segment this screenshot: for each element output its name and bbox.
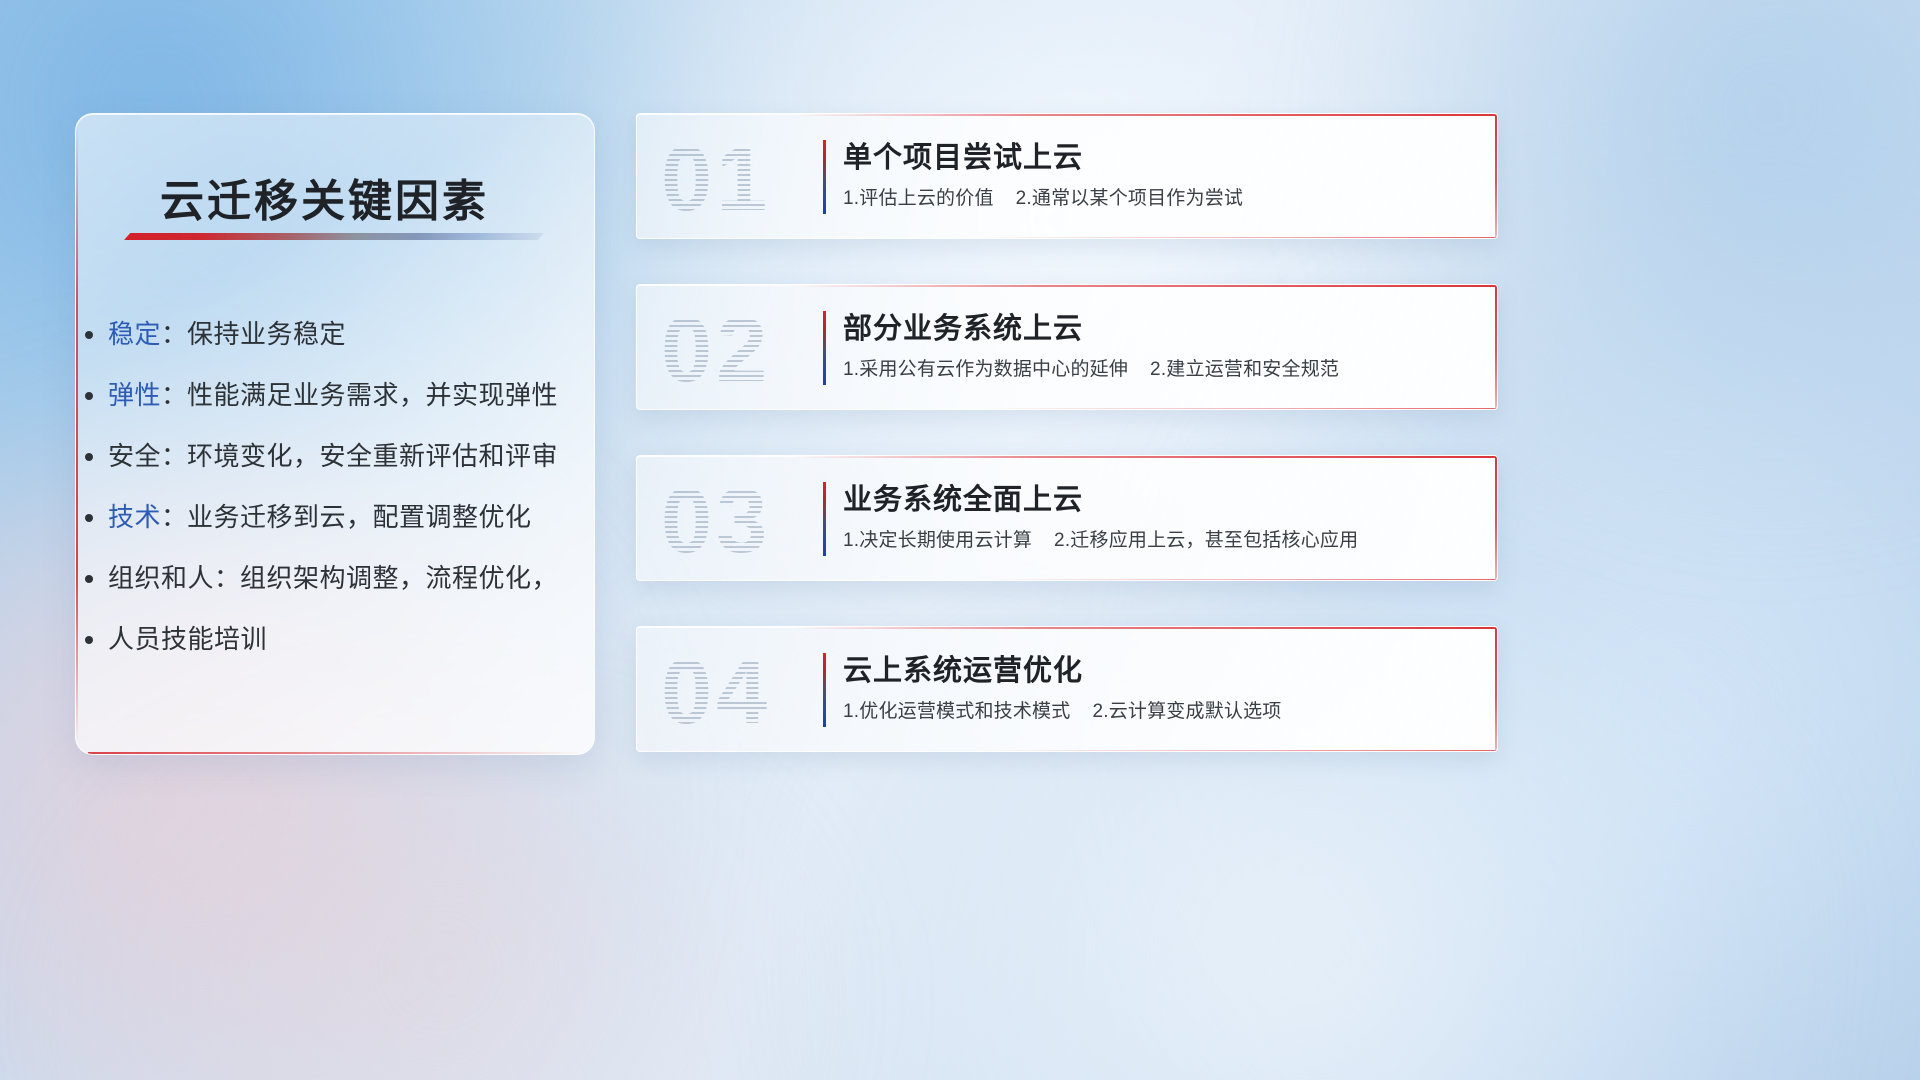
card-bottom-accent-line: [981, 750, 1497, 751]
slide-stage: 云迁移关键因素 稳定：保持业务稳定弹性：性能满足业务需求，并实现弹性安全：环境变…: [0, 0, 1920, 1080]
stage-point-2: 2.通常以某个项目作为尝试: [1016, 188, 1243, 209]
stage-number: 01: [661, 124, 771, 234]
factor-separator: ：: [214, 563, 240, 593]
stage-point-1: 1.采用公有云作为数据中心的延伸: [843, 359, 1128, 380]
stage-point-1: 1.评估上云的价值: [843, 188, 994, 209]
stage-number: 02: [661, 295, 771, 405]
factor-text: 业务迁移到云，配置调整优化: [187, 502, 532, 532]
card-right-accent-line: [1495, 114, 1497, 238]
card-divider-line: [823, 482, 826, 556]
factor-label: 安全: [108, 441, 161, 471]
card-top-accent-line: [792, 114, 1497, 116]
stage-point-2: 2.建立运营和安全规范: [1150, 359, 1339, 380]
stage-title: 部分业务系统上云: [843, 305, 1083, 347]
card-top-accent-line: [792, 627, 1497, 629]
factor-row: 技术：业务迁移到云，配置调整优化: [108, 487, 570, 548]
stage-card[interactable]: 02部分业务系统上云1.采用公有云作为数据中心的延伸2.建立运营和安全规范: [636, 284, 1498, 410]
stage-point-1: 1.决定长期使用云计算: [843, 530, 1032, 551]
stage-title: 单个项目尝试上云: [843, 134, 1083, 176]
factor-label: 稳定: [108, 319, 161, 349]
factor-label: 弹性: [108, 380, 161, 410]
factor-text: 环境变化，安全重新评估和评审: [187, 441, 558, 471]
factor-text: 性能满足业务需求，并实现弹性: [187, 380, 558, 410]
factor-text: 保持业务稳定: [187, 319, 346, 349]
factor-row: 弹性：性能满足业务需求，并实现弹性: [108, 365, 570, 426]
card-divider-line: [823, 140, 826, 214]
factor-label: 技术: [108, 502, 161, 532]
factor-row: 安全：环境变化，安全重新评估和评审: [108, 426, 570, 487]
factor-separator: ：: [161, 380, 187, 410]
stage-number: 04: [661, 637, 771, 747]
stage-point-2: 2.迁移应用上云，甚至包括核心应用: [1054, 530, 1358, 551]
stage-card[interactable]: 03业务系统全面上云1.决定长期使用云计算2.迁移应用上云，甚至包括核心应用: [636, 455, 1498, 581]
card-bottom-accent-line: [981, 237, 1497, 238]
card-divider-line: [823, 311, 826, 385]
factor-row: 人员技能培训: [108, 609, 570, 670]
factor-text: 组织架构调整，流程优化，: [240, 563, 558, 593]
factor-label: 组织和人: [108, 563, 214, 593]
card-bottom-accent-line: [981, 579, 1497, 580]
stage-card[interactable]: 01单个项目尝试上云1.评估上云的价值2.通常以某个项目作为尝试: [636, 113, 1498, 239]
card-top-accent-line: [792, 285, 1497, 287]
stage-title: 云上系统运营优化: [843, 647, 1083, 689]
stage-point-2: 2.云计算变成默认选项: [1092, 701, 1281, 722]
card-right-accent-line: [1495, 285, 1497, 409]
stage-point-1: 1.优化运营模式和技术模式: [843, 701, 1070, 722]
card-bottom-accent-line: [981, 408, 1497, 409]
factor-separator: ：: [161, 441, 187, 471]
stage-points: 1.评估上云的价值2.通常以某个项目作为尝试: [843, 183, 1243, 210]
factor-text: 人员技能培训: [108, 624, 267, 654]
stage-points: 1.决定长期使用云计算2.迁移应用上云，甚至包括核心应用: [843, 525, 1358, 552]
key-factors-list: 稳定：保持业务稳定弹性：性能满足业务需求，并实现弹性安全：环境变化，安全重新评估…: [108, 304, 570, 670]
key-factors-panel: 云迁移关键因素 稳定：保持业务稳定弹性：性能满足业务需求，并实现弹性安全：环境变…: [75, 113, 595, 755]
factor-row: 稳定：保持业务稳定: [108, 304, 570, 365]
stage-card[interactable]: 04云上系统运营优化1.优化运营模式和技术模式2.云计算变成默认选项: [636, 626, 1498, 752]
card-right-accent-line: [1495, 456, 1497, 580]
factor-separator: ：: [161, 319, 187, 349]
stage-points: 1.优化运营模式和技术模式2.云计算变成默认选项: [843, 696, 1282, 723]
factor-separator: ：: [161, 502, 187, 532]
page-title: 云迁移关键因素: [160, 165, 489, 229]
title-underline-rule: [124, 233, 544, 240]
stage-points: 1.采用公有云作为数据中心的延伸2.建立运营和安全规范: [843, 354, 1339, 381]
card-top-accent-line: [792, 456, 1497, 458]
factor-row: 组织和人：组织架构调整，流程优化，: [108, 548, 570, 609]
stage-title: 业务系统全面上云: [843, 476, 1083, 518]
card-divider-line: [823, 653, 826, 727]
card-right-accent-line: [1495, 627, 1497, 751]
stage-number: 03: [661, 466, 771, 576]
